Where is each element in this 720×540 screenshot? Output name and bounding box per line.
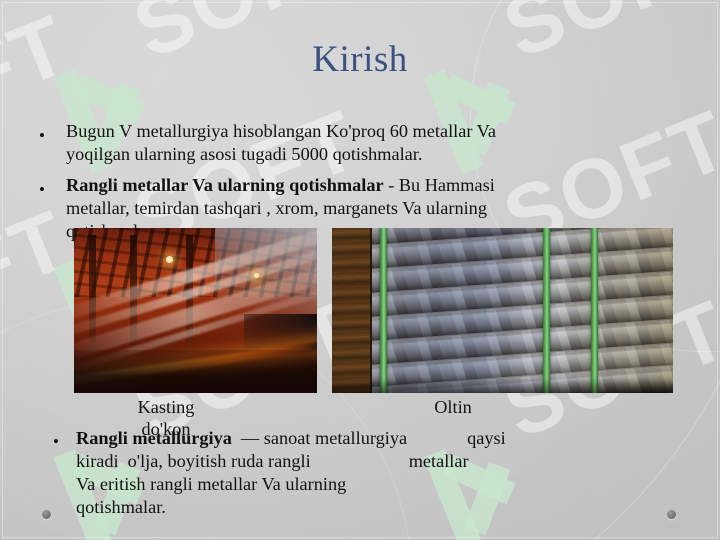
photo-casting-shop	[74, 228, 317, 393]
decorative-dot-bottom-right	[667, 510, 676, 519]
bullet-item-3: • Rangli metallurgiya— sanoat metallurgi…	[76, 427, 696, 519]
bullet-3-line-3: Va eritish rangli metallar Va ularning	[76, 473, 696, 496]
decorative-dot-bottom-left	[42, 510, 51, 519]
bullet-3-line-2: kiradio'lja, boyitish ruda ranglimetalla…	[76, 450, 696, 473]
caption-ingots: Oltin	[396, 396, 510, 418]
bullet-3-line-4: qotishmalar.	[76, 496, 696, 519]
bullet-marker: •	[39, 181, 45, 198]
caption-casting-line-2: do'kon	[104, 418, 228, 440]
ingots-photo-green-strap	[543, 228, 550, 393]
ingots-photo-gold-tint	[557, 228, 673, 393]
bullet-item-1: • Bugun V metallurgiya hisoblangan Ko'pr…	[66, 120, 686, 166]
bullet-marker: •	[39, 127, 45, 144]
bullet-2-line-1: Rangli metallar Va ularning qotishmalar …	[66, 174, 686, 197]
presentation-slide: SOFTSOFTSOFTSOFTSOFTSOFTSOFTSOFTSOFT Kir…	[0, 0, 720, 540]
bullet-3-line-2-mid: o'lja, boyitish ruda rangli	[128, 451, 311, 471]
bullet-3-line-1-tail: qaysi	[467, 428, 506, 448]
bullet-marker: •	[53, 433, 59, 450]
bullet-3-line-2-head: kiradi	[76, 451, 119, 471]
ingots-photo-bottom-shadow	[332, 378, 673, 393]
bullet-1-line-2: yoqilgan ularning asosi tugadi 5000 qoti…	[66, 143, 686, 166]
bullet-3-line-1-rest: — sanoat metallurgiya	[241, 428, 407, 448]
caption-ingots-line-1: Oltin	[396, 396, 510, 418]
ingots-photo-green-strap	[591, 228, 598, 393]
bullet-2-line-2: metallar, temirdan tashqari , xrom, marg…	[66, 197, 686, 220]
slide-content: Kirish • Bugun V metallurgiya hisoblanga…	[0, 0, 720, 540]
casting-photo-floor	[74, 350, 317, 393]
photo-metal-ingots	[332, 228, 673, 393]
casting-photo-spark	[254, 273, 259, 278]
ingots-photo-green-strap	[380, 228, 387, 393]
bullet-3-line-2-tail: metallar	[409, 451, 469, 471]
caption-casting: Kasting do'kon	[104, 396, 228, 441]
page-title: Kirish	[0, 40, 720, 81]
bullet-2-bold-lead: Rangli metallar Va ularning qotishmalar	[66, 175, 384, 195]
ingots-photo-wood-post	[332, 228, 372, 393]
bullet-1-line-1: Bugun V metallurgiya hisoblangan Ko'proq…	[66, 120, 686, 143]
bullet-2-line-1-rest: - Bu Hammasi	[384, 175, 495, 195]
caption-casting-line-1: Kasting	[104, 396, 228, 418]
